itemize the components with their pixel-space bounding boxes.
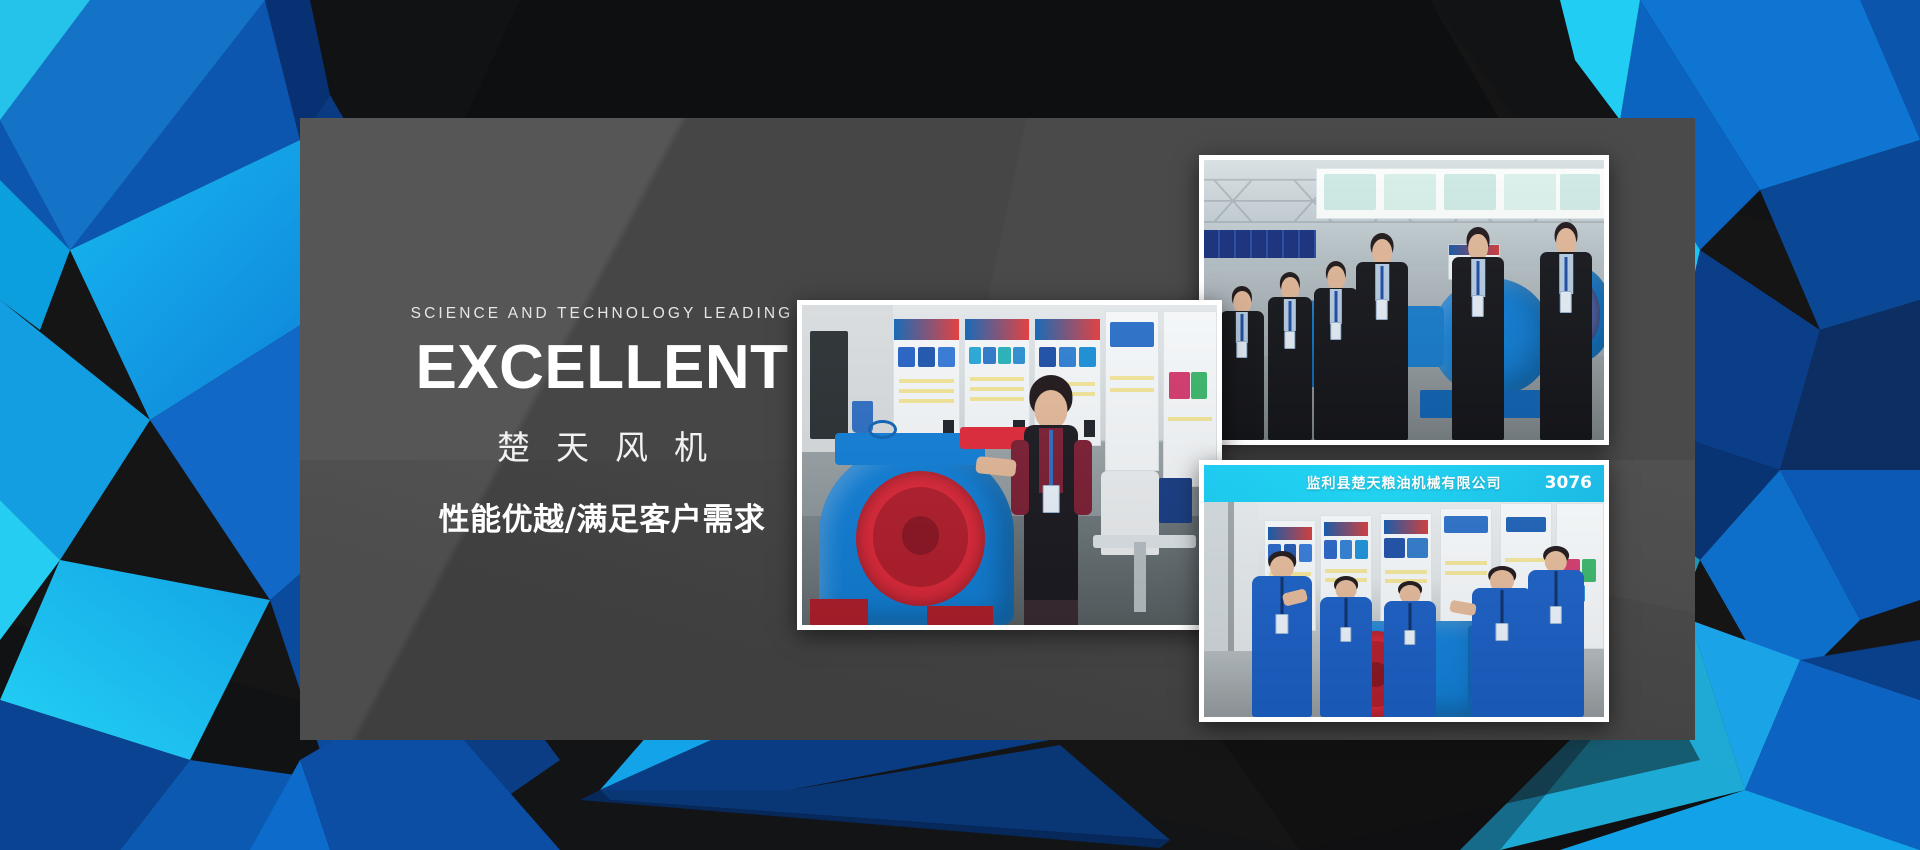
photo-fan-presenter <box>797 300 1222 630</box>
eyebrow-tagline: SCIENCE AND TECHNOLOGY LEADING <box>392 305 812 323</box>
photo-booth-staff: 监利县楚天粮油机械有限公司 3076 <box>1199 460 1609 722</box>
headline-text-block: SCIENCE AND TECHNOLOGY LEADING EXCELLENT… <box>392 305 812 539</box>
brand-name-cn: 楚天风机 <box>392 421 812 469</box>
photo-exhibition-team: CT 75kW <box>1199 155 1609 445</box>
hero-banner: SCIENCE AND TECHNOLOGY LEADING EXCELLENT… <box>0 0 1920 850</box>
brand-slogan-cn: 性能优越/满足客户需求 <box>392 494 812 539</box>
page-title: EXCELLENT <box>392 337 812 399</box>
